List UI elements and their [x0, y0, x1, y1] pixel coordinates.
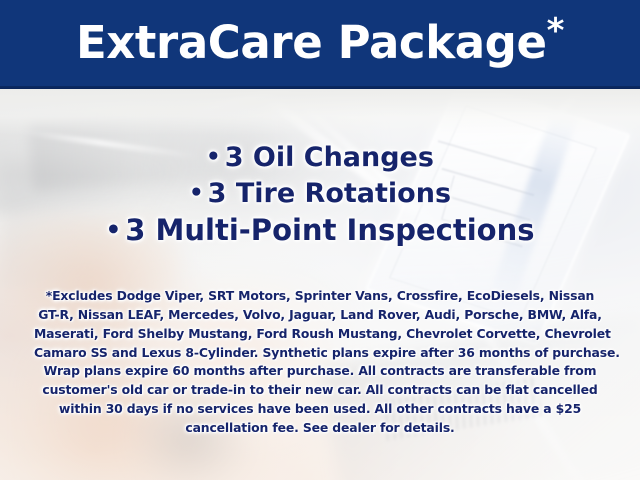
disclaimer-line: Camaro SS and Lexus 8-Cylinder. Syntheti…	[34, 344, 606, 363]
feature-label: 3 Tire Rotations	[208, 178, 451, 209]
list-item: •3 Multi-Point Inspections	[0, 211, 640, 249]
disclaimer-text: *Excludes Dodge Viper, SRT Motors, Sprin…	[34, 287, 606, 438]
bullet-dot-icon: •	[189, 180, 204, 206]
page-title-asterisk: *	[547, 11, 564, 51]
disclaimer-line: *Excludes Dodge Viper, SRT Motors, Sprin…	[34, 287, 606, 306]
disclaimer-line: Maserati, Ford Shelby Mustang, Ford Rous…	[34, 325, 606, 344]
bullet-dot-icon: •	[206, 144, 221, 170]
disclaimer-line: Wrap plans expire 60 months after purcha…	[34, 362, 606, 381]
list-item: •3 Oil Changes	[0, 140, 640, 176]
bullet-dot-icon: •	[106, 215, 122, 244]
page-title: ExtraCare Package*	[0, 20, 640, 65]
disclaimer-line: GT-R, Nissan LEAF, Mercedes, Volvo, Jagu…	[34, 306, 606, 325]
feature-label: 3 Oil Changes	[225, 142, 434, 173]
disclaimer-line: cancellation fee. See dealer for details…	[34, 419, 606, 438]
header-band: ExtraCare Package*	[0, 0, 640, 89]
photo-top-fade-overlay	[0, 89, 640, 135]
page-title-text: ExtraCare Package	[76, 16, 547, 69]
disclaimer-line: within 30 days if no services have been …	[34, 400, 606, 419]
disclaimer-line: customer's old car or trade-in to their …	[34, 381, 606, 400]
extracare-package-banner: ExtraCare Package* •3 Oil Changes •3 Tir…	[0, 0, 640, 480]
feature-list: •3 Oil Changes •3 Tire Rotations •3 Mult…	[0, 140, 640, 250]
feature-label: 3 Multi-Point Inspections	[125, 213, 534, 247]
list-item: •3 Tire Rotations	[0, 176, 640, 212]
